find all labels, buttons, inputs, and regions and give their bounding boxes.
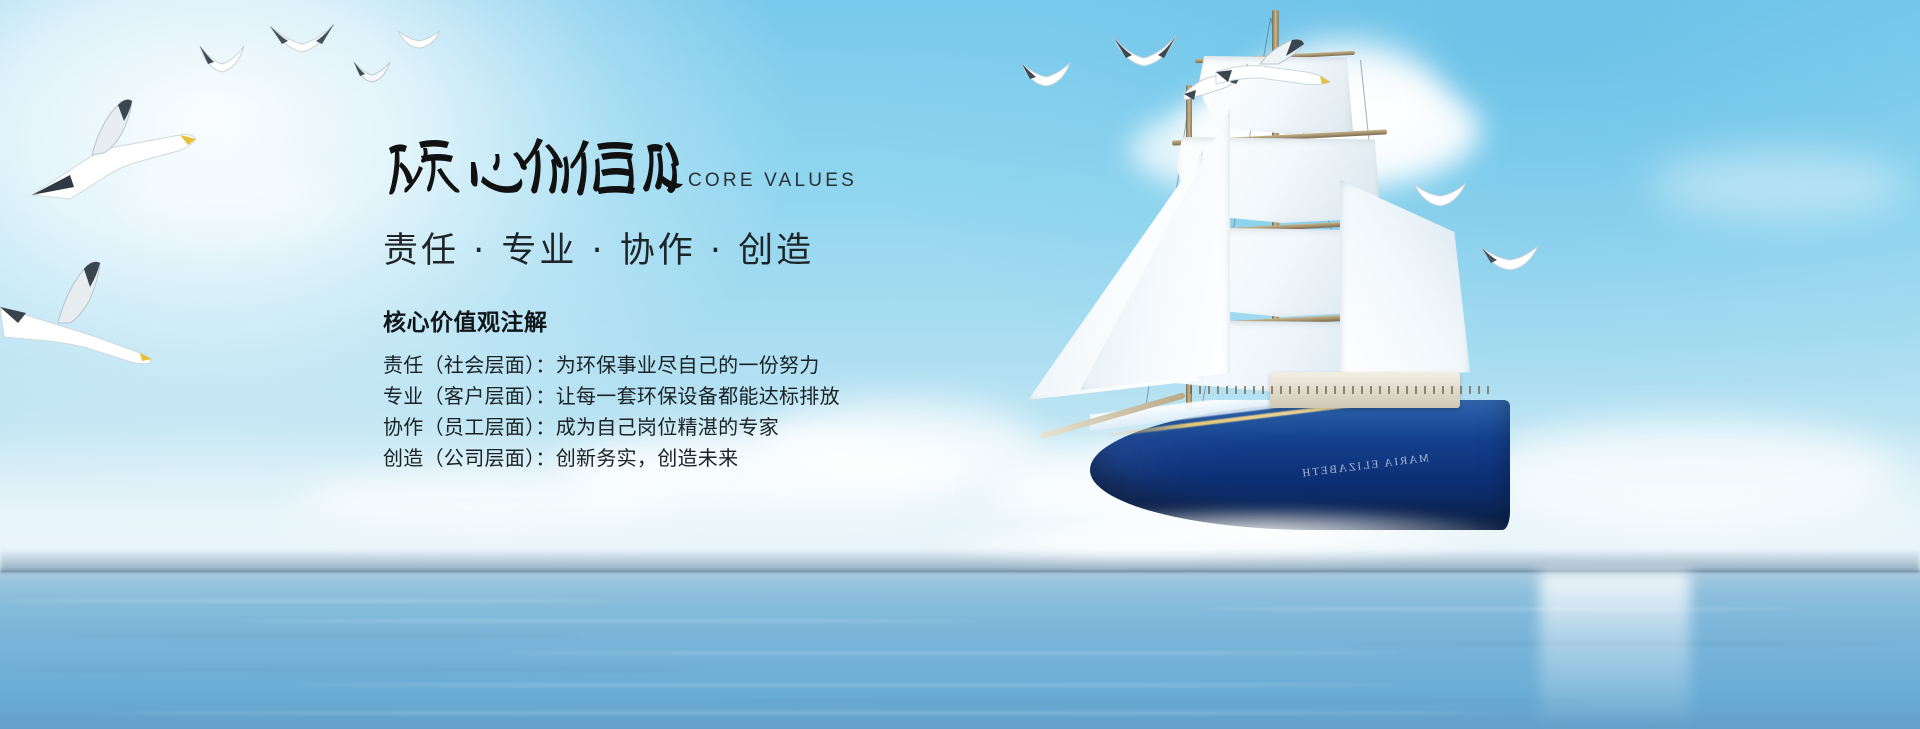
banner-text-block: CORE VALUES 责任 · 专业 · 协作 · 创造 核心价值观注解 责任… <box>383 128 1083 474</box>
seagull-icon <box>1112 28 1178 74</box>
cloud <box>1650 150 1910 220</box>
sun-glint <box>1540 572 1690 729</box>
seagull-icon <box>0 255 165 370</box>
deck-railing <box>1190 386 1490 394</box>
seagull-icon <box>268 18 336 60</box>
note-line: 责任（社会层面）：为环保事业尽自己的一份努力 <box>383 350 1083 381</box>
cloud <box>1480 420 1900 530</box>
core-values-banner: MARIA ELIZABETH <box>0 0 1920 729</box>
title-row: CORE VALUES <box>383 128 1083 206</box>
note-list: 责任（社会层面）：为环保事业尽自己的一份努力 专业（客户层面）：让每一套环保设备… <box>383 350 1083 474</box>
seagull-icon <box>30 95 200 205</box>
note-line: 协作（员工层面）：成为自己岗位精湛的专家 <box>383 412 1083 443</box>
seagull-icon <box>352 58 392 86</box>
seagull-icon <box>196 42 248 80</box>
seagull-icon <box>1214 38 1334 102</box>
page-title <box>383 128 683 202</box>
note-line: 专业（客户层面）：让每一套环保设备都能达标排放 <box>383 381 1083 412</box>
note-line: 创造（公司层面）：创新务实，创造未来 <box>383 443 1083 474</box>
seagull-icon <box>1480 240 1540 274</box>
headsail <box>1080 110 1230 390</box>
seagull-icon <box>1020 58 1072 92</box>
ship-wake <box>920 520 1280 566</box>
seagull-icon <box>1412 178 1468 210</box>
cloud <box>300 470 680 530</box>
note-heading: 核心价值观注解 <box>383 303 1083 337</box>
title-english: CORE VALUES <box>688 170 857 192</box>
sail <box>1340 180 1470 380</box>
seagull-icon <box>396 25 442 51</box>
subtitle: 责任 · 专业 · 协作 · 创造 <box>383 222 1083 273</box>
